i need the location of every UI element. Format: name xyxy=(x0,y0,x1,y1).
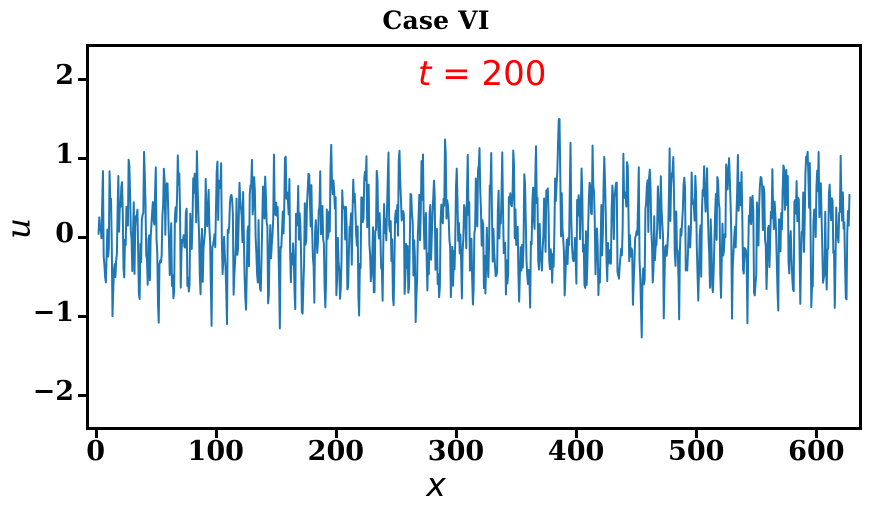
x-tick-label: 400 xyxy=(548,438,604,465)
chart-figure: Case VI 210−1−2 u 0100200300400500600 x … xyxy=(0,0,872,510)
x-tick-label: 600 xyxy=(788,438,844,465)
y-tick-mark xyxy=(78,78,86,81)
page-title: Case VI xyxy=(0,6,872,35)
x-tick-label: 0 xyxy=(86,438,105,465)
plot-area xyxy=(86,44,862,430)
y-tick-mark xyxy=(78,315,86,318)
y-tick-mark xyxy=(78,157,86,160)
series-polyline xyxy=(99,119,850,337)
x-tick-label: 100 xyxy=(188,438,244,465)
time-symbol: t xyxy=(418,54,431,94)
x-tick-label: 200 xyxy=(308,438,364,465)
time-annotation: t = 200 xyxy=(418,57,546,91)
x-tick-label: 300 xyxy=(428,438,484,465)
x-axis-label: x xyxy=(0,468,872,501)
time-value: 200 xyxy=(481,54,546,94)
y-axis-label: u xyxy=(2,199,35,259)
x-tick-label: 500 xyxy=(668,438,724,465)
y-tick-label: 1 xyxy=(14,141,74,168)
y-tick-mark xyxy=(78,394,86,397)
y-tick-label: −2 xyxy=(14,378,74,405)
series-line-chart xyxy=(89,47,859,427)
y-tick-label: −1 xyxy=(14,299,74,326)
time-equals: = xyxy=(431,54,481,94)
y-tick-label: 2 xyxy=(14,62,74,89)
y-tick-mark xyxy=(78,236,86,239)
